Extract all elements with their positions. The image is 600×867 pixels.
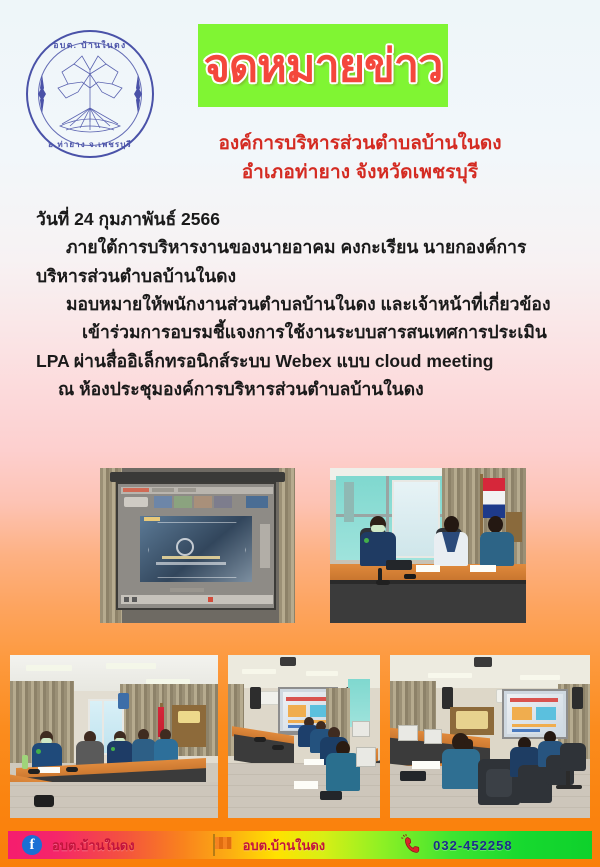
phone-label: 032-452258 [433,838,512,853]
body-line-3: บริหารส่วนตำบลบ้านในดง [20,262,580,290]
announcement-body: วันที่ 24 กุมภาพันธ์ 2566 ภายใต้การบริหา… [0,205,600,403]
body-line-5: เข้าร่วมการอบรมชี้แจงการใช้งานระบบสารสนเ… [20,318,580,346]
body-line-7: ณ ห้องประชุมองค์การบริหารส่วนตำบลบ้านในด… [20,375,580,403]
title-banner: จดหมายข่าว [198,24,448,107]
organization-name-line-2: อำเภอท่ายาง จังหวัดเพชรบุรี [140,159,580,188]
body-line-date: วันที่ 24 กุมภาพันธ์ 2566 [20,205,580,233]
body-line-6: LPA ผ่านสื่ออิเล็กทรอนิกส์ระบบ Webex แบบ… [20,347,580,375]
facebook-icon: f [22,835,42,855]
photo-meeting-room-left[interactable] [10,655,218,818]
body-line-4: มอบหมายให้พนักงานส่วนตำบลบ้านในดง และเจ้… [20,290,580,318]
photo-meeting-room-center[interactable] [228,655,380,818]
organization-name-line-1: องค์การบริหารส่วนตำบลบ้านในดง [140,130,580,159]
seal-bottom-text: อ.ท่ายาง จ.เพชรบุรี [22,138,158,151]
phone-icon [401,834,423,856]
page-title: จดหมายข่าว [204,43,443,88]
footer-line[interactable]: อบต.บ้านในดง [211,831,326,859]
organization-seal: อบต. บ้านในดง อ.ท่ายาง จ.เพชรบุรี [22,26,158,162]
flag-icon [211,834,233,856]
footer-facebook[interactable]: f อบต.บ้านในดง [22,831,135,859]
body-line-2: ภายใต้การบริหารงานของนายอาคม คงกะเรียน น… [20,233,580,261]
newsletter-poster: อบต. บ้านในดง อ.ท่ายาง จ.เพชรบุรี จดหมาย… [0,0,600,867]
poster-header: อบต. บ้านในดง อ.ท่ายาง จ.เพชรบุรี จดหมาย… [0,0,600,200]
facebook-label: อบต.บ้านในดง [52,835,135,856]
photo-head-table[interactable] [330,468,526,623]
seal-top-text: อบต. บ้านในดง [22,38,158,52]
contact-footer-bar: f อบต.บ้านในดง อบต.บ้านในดง 032-452258 [8,831,592,859]
photo-meeting-room-right[interactable] [390,655,590,818]
photo-projector-screen[interactable] [100,468,295,623]
line-label: อบต.บ้านในดง [243,835,326,856]
footer-phone[interactable]: 032-452258 [401,831,512,859]
organization-name-block: องค์การบริหารส่วนตำบลบ้านในดง อำเภอท่ายา… [140,130,580,187]
